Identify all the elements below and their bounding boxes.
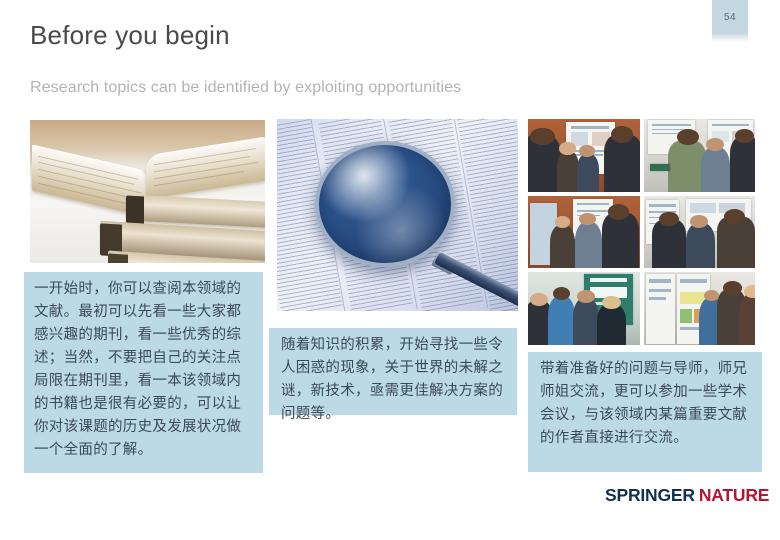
magnifying-glass-photo	[277, 119, 518, 311]
collage-photo-6	[644, 272, 756, 345]
collage-photo-5	[528, 272, 640, 345]
slide: 54 Before you begin Research topics can …	[0, 0, 780, 540]
text-box-literature: 一开始时，你可以查阅本领域的文献。最初可以先看一些大家都感兴趣的期刊，看一些优秀…	[24, 272, 263, 473]
collage-photo-4	[644, 196, 756, 269]
collage-photo-3	[528, 196, 640, 269]
logo-springer-text: SPRINGER	[605, 485, 695, 505]
page-subtitle: Research topics can be identified by exp…	[30, 79, 461, 97]
stack-of-books-photo	[30, 120, 265, 263]
magnifier-lens	[315, 141, 455, 267]
page-number-badge: 54	[712, 0, 748, 34]
collage-photo-1	[528, 119, 640, 192]
collage-photo-2	[644, 119, 756, 192]
book-spine-top	[126, 196, 144, 225]
page-number-label: 54	[724, 12, 736, 23]
springer-nature-logo: SPRINGERNATURE	[605, 485, 769, 506]
logo-nature-text: NATURE	[699, 485, 769, 505]
conference-poster-session-collage	[528, 119, 755, 345]
collage-grid	[528, 119, 755, 345]
text-box-questions: 随着知识的积累，开始寻找一些令人困惑的现象，关于世界的未解之谜，新技术，亟需更佳…	[269, 328, 517, 415]
page-title: Before you begin	[30, 20, 230, 51]
book-spine-bottom	[108, 253, 128, 263]
text-box-communication: 带着准备好的问题与导师，师兄师姐交流，更可以参加一些学术会议，与该领域内某篇重要…	[528, 352, 762, 472]
